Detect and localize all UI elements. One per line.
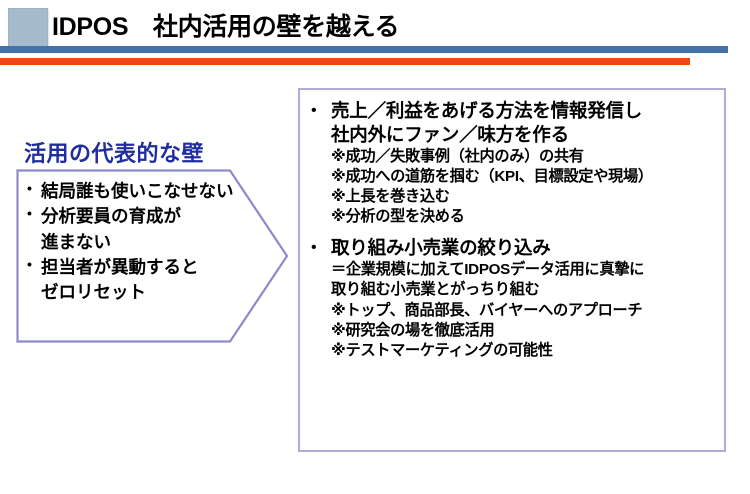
wall-list-item-2-cont: 進まない xyxy=(26,231,276,254)
solutions-panel-inner: • 売上／利益をあげる方法を情報発信し 社内外にファン／味方を作る ※成功／失敗… xyxy=(300,90,724,361)
solution-group-2-lines: 取り組み小売業の絞り込み ＝企業規模に加えてIDPOSデータ活用に真摯に 取り組… xyxy=(308,236,718,360)
slide-canvas: IDPOS 社内活用の壁を越える 活用の代表的な壁 結局誰も使いこなせない 分析… xyxy=(0,0,750,494)
solution-1-sub-line-3: ※上長を巻き込む xyxy=(331,187,718,207)
solution-1-head-line-1: 売上／利益をあげる方法を情報発信し xyxy=(331,99,718,123)
solution-group-1-lines: 売上／利益をあげる方法を情報発信し 社内外にファン／味方を作る ※成功／失敗事例… xyxy=(308,99,718,227)
wall-list-item-3: 担当者が異動すると xyxy=(26,256,276,279)
solution-1-sub-line-2: ※成功への道筋を掴む（KPI、目標設定や現場） xyxy=(331,167,718,187)
solution-2-sub-line-5: ※テストマーケティングの可能性 xyxy=(331,341,718,361)
wall-list-item-3-cont: ゼロリセット xyxy=(26,281,276,304)
solution-1-sub-line-1: ※成功／失敗事例（社内のみ）の共有 xyxy=(331,147,718,167)
solution-2-head-line-1: 取り組み小売業の絞り込み xyxy=(331,236,718,260)
solution-2-sub-line-1: ＝企業規模に加えてIDPOSデータ活用に真摯に xyxy=(331,260,718,280)
solution-group-2: • 取り組み小売業の絞り込み ＝企業規模に加えてIDPOSデータ活用に真摯に 取… xyxy=(308,236,718,360)
solution-1-sub-line-4: ※分析の型を決める xyxy=(331,207,718,227)
header-accent-square xyxy=(8,8,48,48)
solution-1-head-line-2: 社内外にファン／味方を作る xyxy=(331,123,718,147)
solutions-panel: • 売上／利益をあげる方法を情報発信し 社内外にファン／味方を作る ※成功／失敗… xyxy=(298,88,726,452)
header-rule-orange xyxy=(0,58,690,65)
wall-list: 結局誰も使いこなせない 分析要員の育成が 進まない 担当者が異動すると ゼロリセ… xyxy=(26,180,276,306)
bullet-dot-icon: • xyxy=(311,103,317,119)
left-section-heading: 活用の代表的な壁 xyxy=(24,136,204,168)
solution-2-sub-line-2: 取り組む小売業とがっちり組む xyxy=(331,280,718,300)
page-title: IDPOS 社内活用の壁を越える xyxy=(52,8,399,46)
solution-2-sub-line-4: ※研究会の場を徹底活用 xyxy=(331,321,718,341)
wall-list-item-2: 分析要員の育成が xyxy=(26,205,276,228)
solution-group-1: • 売上／利益をあげる方法を情報発信し 社内外にファン／味方を作る ※成功／失敗… xyxy=(308,99,718,227)
bullet-dot-icon: • xyxy=(311,240,317,256)
solution-2-sub-line-3: ※トップ、商品部長、バイヤーへのアプローチ xyxy=(331,301,718,321)
wall-list-item-1: 結局誰も使いこなせない xyxy=(26,180,276,203)
header-rule-blue xyxy=(0,46,728,53)
